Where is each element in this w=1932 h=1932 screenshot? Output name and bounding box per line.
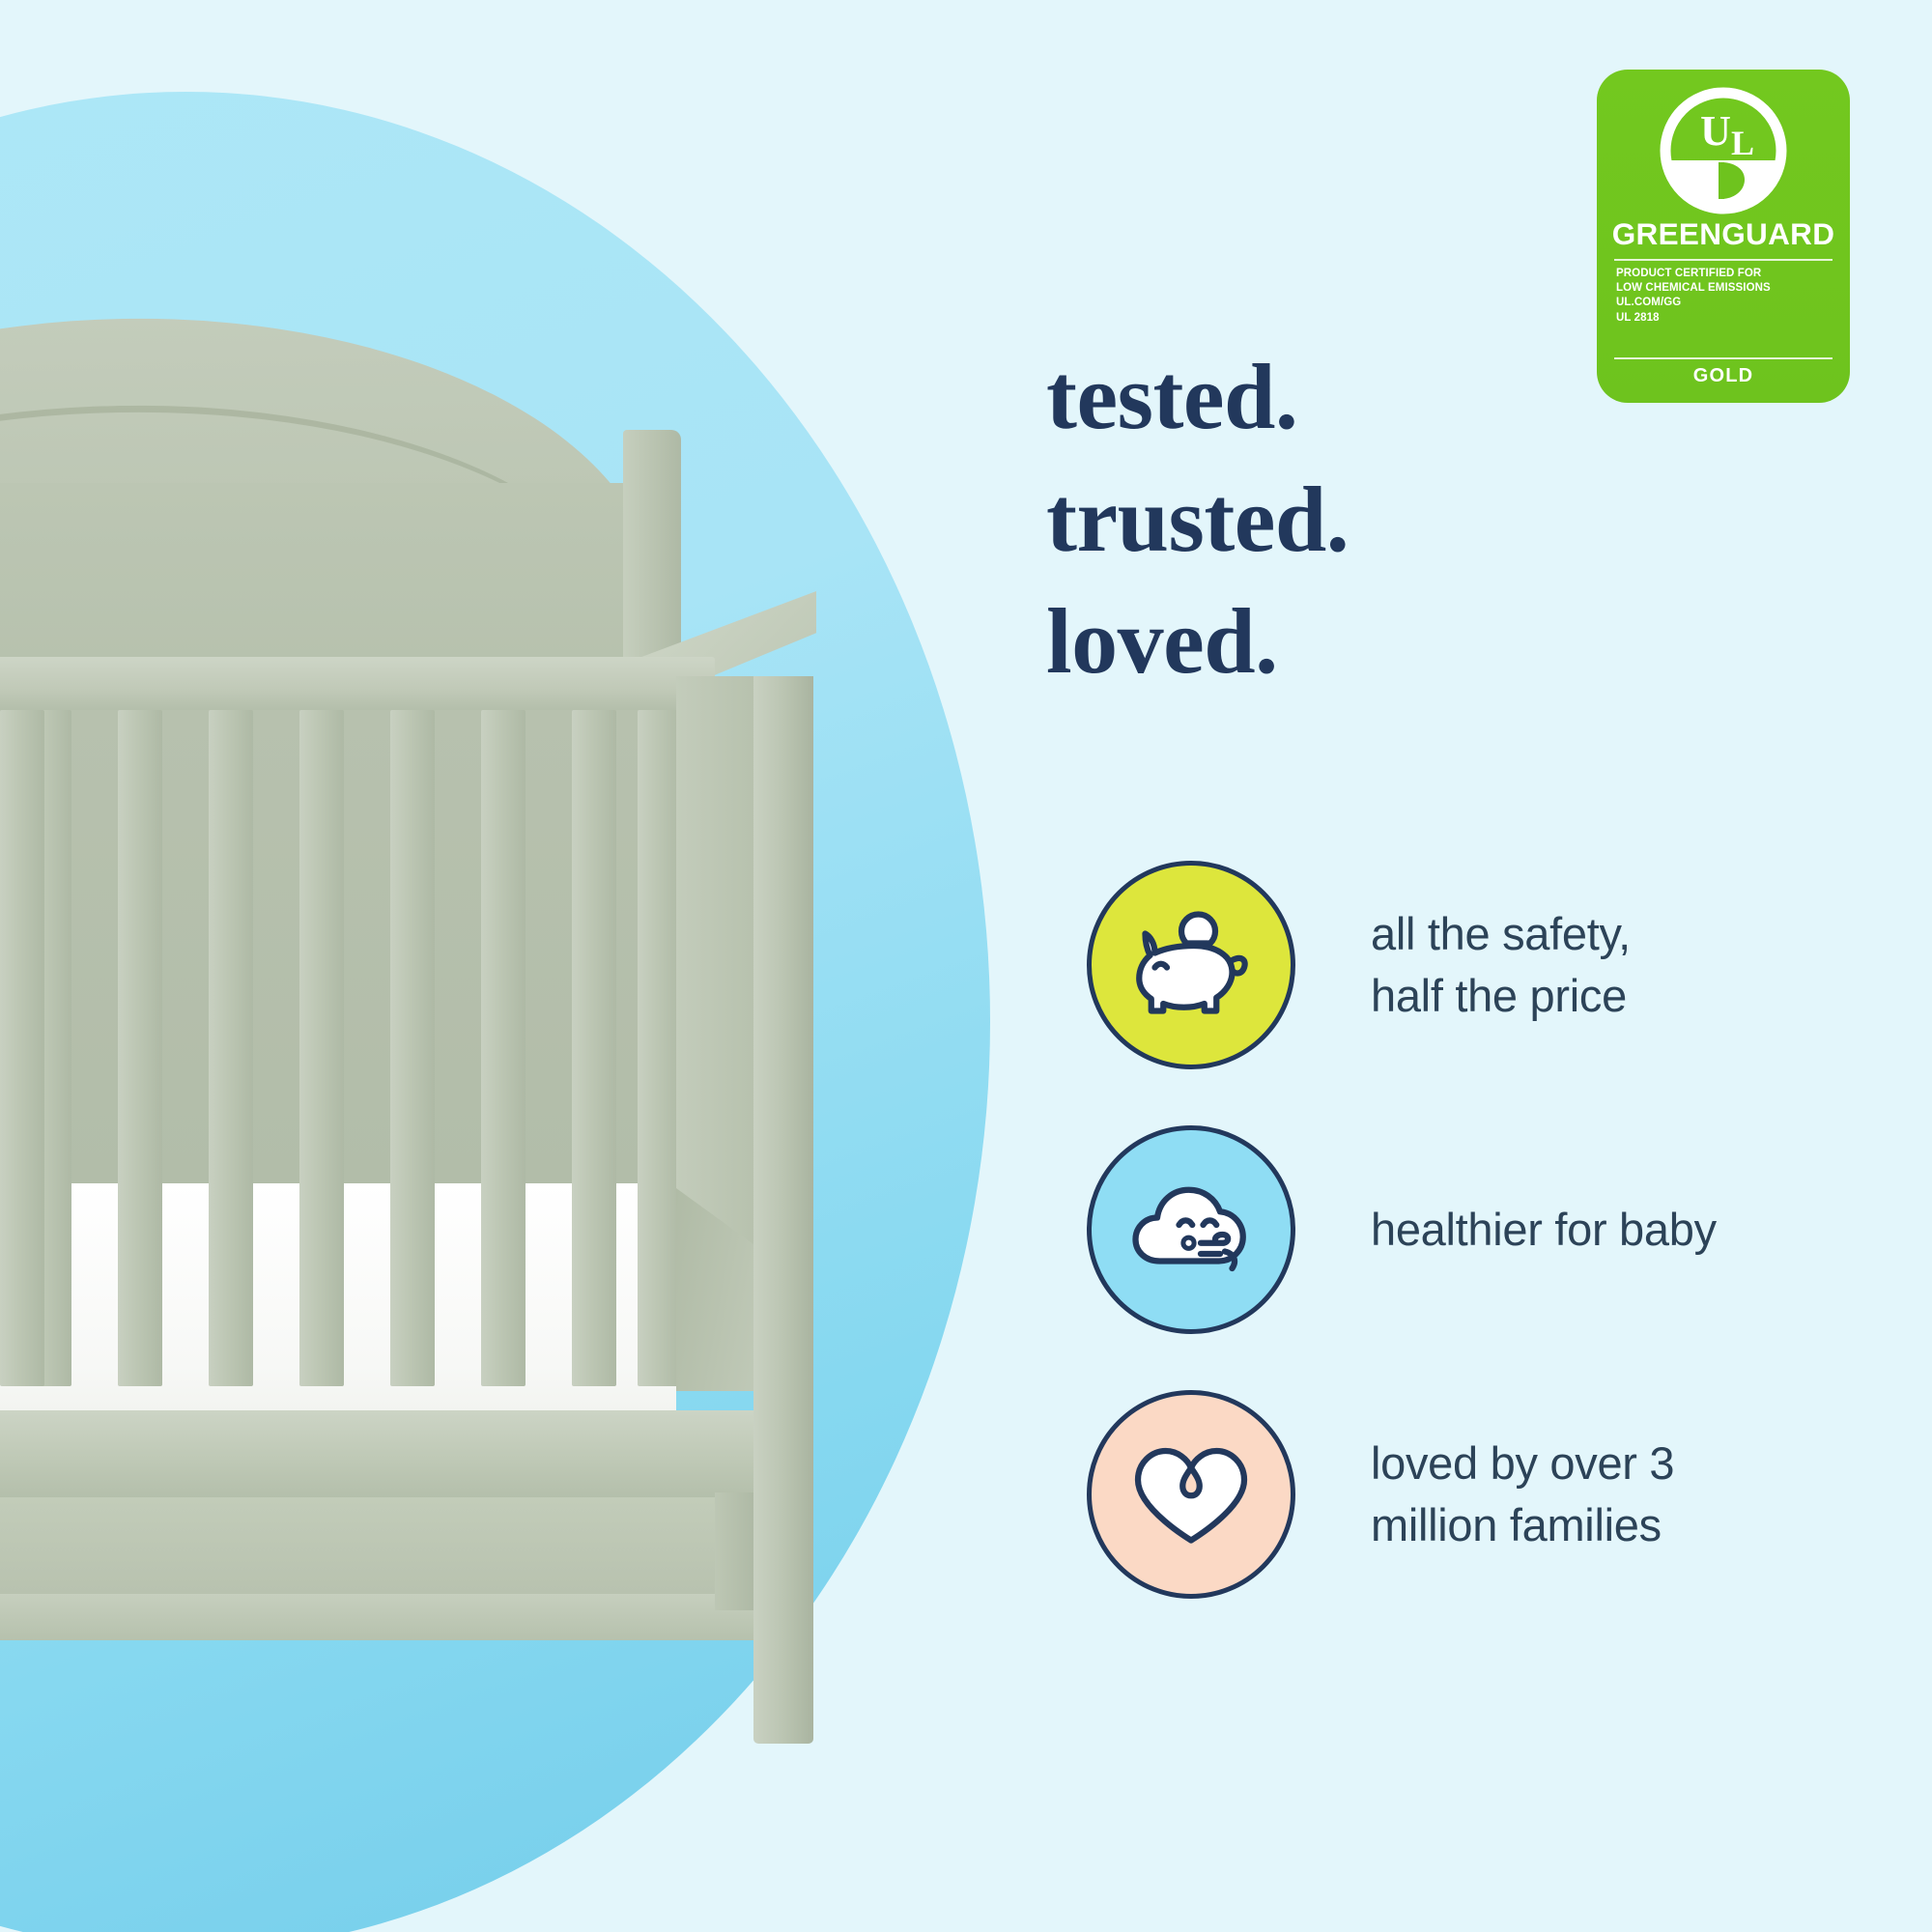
feature-price-line-1: all the safety, — [1371, 903, 1631, 965]
greenguard-fine-print: PRODUCT CERTIFIED FOR LOW CHEMICAL EMISS… — [1616, 267, 1838, 326]
headline-line-1: tested. — [1046, 336, 1349, 459]
smiling-cloud-icon — [1087, 1125, 1295, 1334]
crib-foot-bracket — [715, 1492, 755, 1610]
feature-label-price: all the safety, half the price — [1371, 903, 1631, 1027]
headline-line-3: loved. — [1046, 581, 1349, 703]
crib-slat — [299, 710, 344, 1386]
svg-text:L: L — [1731, 124, 1754, 162]
crib-bottom-rail-upper — [0, 1410, 763, 1497]
fine-print-line-2: LOW CHEMICAL EMISSIONS — [1616, 281, 1838, 296]
crib-slat — [209, 710, 253, 1386]
greenguard-name: GREENGUARD — [1597, 216, 1850, 252]
feature-item-health: healthier for baby — [1087, 1120, 1879, 1340]
crib-product-image — [0, 0, 850, 1768]
crib-slat — [481, 710, 526, 1386]
greenguard-level: GOLD — [1597, 365, 1850, 387]
crib-slat — [0, 710, 44, 1386]
headline-line-2: trusted. — [1046, 459, 1349, 582]
crib-slat — [118, 710, 162, 1386]
fine-print-line-1: PRODUCT CERTIFIED FOR — [1616, 267, 1838, 281]
fine-print-line-3: UL.COM/GG — [1616, 296, 1838, 310]
crib-corner-leg — [753, 676, 813, 1744]
headline: tested. trusted. loved. — [1046, 336, 1349, 703]
promo-image: U L GREENGUARD PRODUCT CERTIFIED FOR LOW… — [0, 0, 1932, 1932]
crib-slat — [390, 710, 435, 1386]
heart-icon — [1087, 1390, 1295, 1599]
badge-divider-top — [1614, 259, 1833, 261]
piggy-bank-icon — [1087, 861, 1295, 1069]
crib-bottom-rail-middle — [0, 1497, 763, 1594]
feature-list: all the safety, half the price healthier… — [1087, 855, 1879, 1649]
feature-families-line-2: million families — [1371, 1494, 1674, 1556]
feature-label-families: loved by over 3 million families — [1371, 1433, 1674, 1556]
feature-label-health: healthier for baby — [1371, 1199, 1717, 1261]
greenguard-gold-badge: U L GREENGUARD PRODUCT CERTIFIED FOR LOW… — [1597, 70, 1850, 403]
crib-top-rail — [0, 657, 715, 713]
feature-item-families: loved by over 3 million families — [1087, 1384, 1879, 1605]
crib-slats — [0, 710, 676, 1386]
feature-health-line-1: healthier for baby — [1371, 1199, 1717, 1261]
feature-price-line-2: half the price — [1371, 965, 1631, 1027]
svg-text:U: U — [1700, 107, 1731, 155]
crib-bottom-rail-lower — [0, 1594, 763, 1640]
crib-slat — [572, 710, 616, 1386]
feature-families-line-1: loved by over 3 — [1371, 1433, 1674, 1494]
ul-logo-icon: U L — [1658, 85, 1789, 216]
feature-item-price: all the safety, half the price — [1087, 855, 1879, 1075]
fine-print-line-4: UL 2818 — [1616, 311, 1838, 326]
badge-divider-bottom — [1614, 357, 1833, 359]
